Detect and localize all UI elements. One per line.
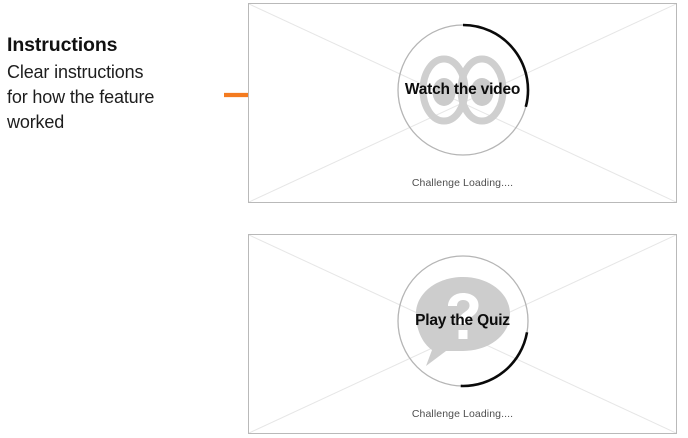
annotation-body-line-2: for how the feature [7, 87, 154, 107]
challenge-card-watch-video[interactable]: Watch the video Challenge Loading.... [248, 3, 677, 203]
card-status-watch-video: Challenge Loading.... [412, 177, 513, 189]
progress-ring-watch-video: Watch the video [391, 18, 535, 162]
card-label-watch-video: Watch the video [405, 81, 520, 99]
card-label-play-quiz: Play the Quiz [415, 312, 510, 330]
annotation-body-line-1: Clear instructions [7, 62, 143, 82]
annotation-title: Instructions [7, 33, 232, 57]
instructions-annotation: Instructions Clear instructions for how … [7, 33, 232, 135]
annotation-body-line-3: worked [7, 112, 64, 132]
card-status-play-quiz: Challenge Loading.... [412, 408, 513, 420]
annotation-body: Clear instructions for how the feature w… [7, 60, 232, 134]
progress-ring-play-quiz: Play the Quiz [391, 249, 535, 393]
challenge-card-play-quiz[interactable]: Play the Quiz Challenge Loading.... [248, 234, 677, 434]
